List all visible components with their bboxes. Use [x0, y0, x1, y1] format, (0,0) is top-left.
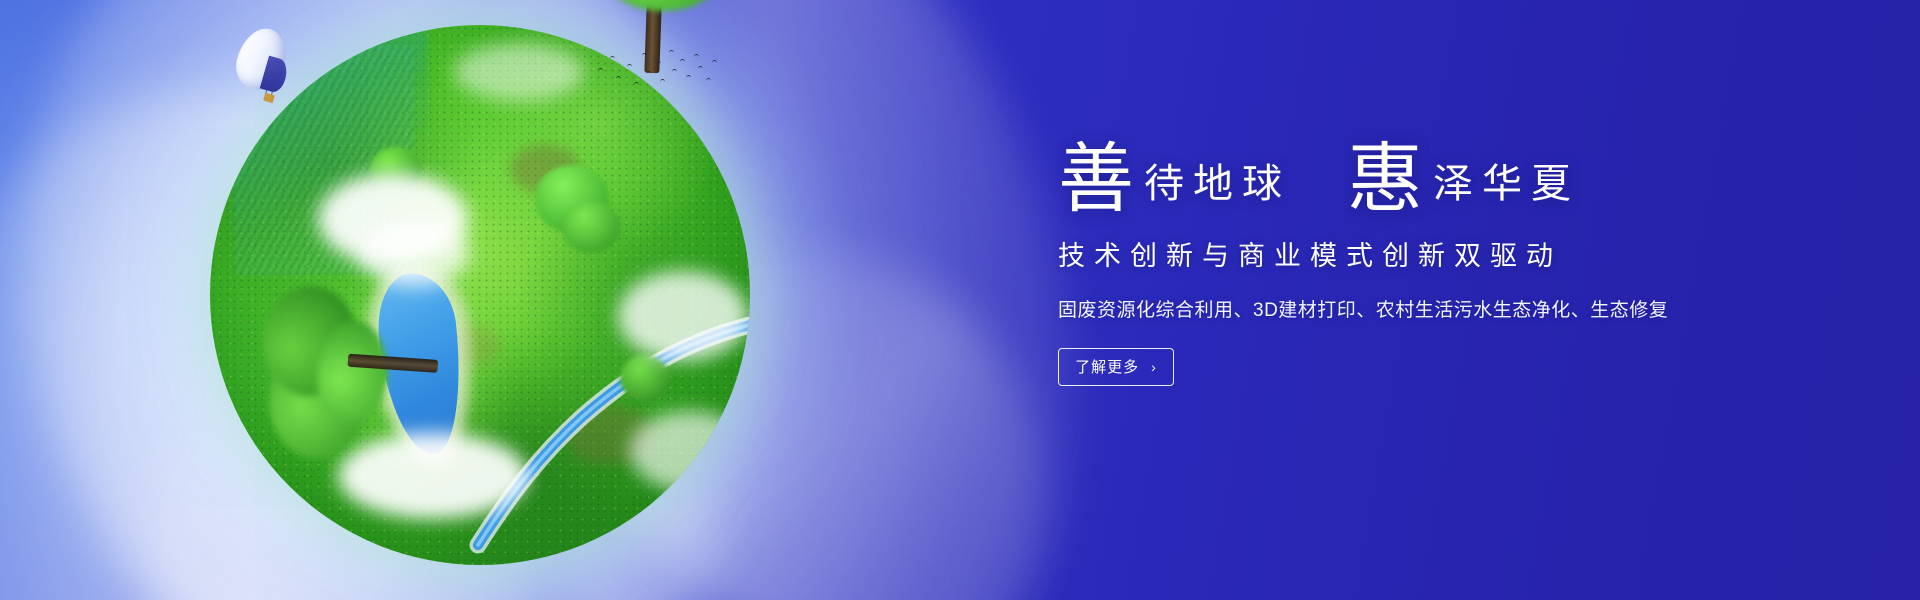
- tree-crown: [604, 0, 722, 11]
- bush: [562, 201, 620, 253]
- planet-cloud: [618, 271, 748, 361]
- balloon-basket: [263, 93, 275, 103]
- page-title: 善 待地球 惠 泽华夏: [1058, 140, 1818, 210]
- headline-small-text-two: 泽华夏: [1423, 164, 1580, 210]
- headline-big-char-two: 惠: [1347, 144, 1423, 214]
- chevron-right-icon: ›: [1151, 360, 1157, 374]
- headline-small-text-one: 待地球: [1134, 164, 1291, 210]
- planet-cloud: [630, 411, 750, 491]
- bird-flock-icon: [594, 48, 724, 96]
- hero-content: 善 待地球 惠 泽华夏 技术创新与商业模式创新双驱动 固废资源化综合利用、3D建…: [1058, 140, 1818, 386]
- planet-cloud: [360, 221, 470, 287]
- learn-more-label: 了解更多: [1075, 356, 1139, 377]
- bush: [620, 355, 670, 401]
- side-tree: [249, 291, 454, 524]
- learn-more-button[interactable]: 了解更多 ›: [1058, 348, 1174, 386]
- hot-air-balloon-icon: [238, 28, 292, 120]
- description-text: 固废资源化综合利用、3D建材打印、农村生活污水生态净化、生态修复: [1058, 295, 1818, 322]
- subtitle: 技术创新与商业模式创新双驱动: [1058, 234, 1818, 273]
- hero-banner: 善 待地球 惠 泽华夏 技术创新与商业模式创新双驱动 固废资源化综合利用、3D建…: [0, 0, 1920, 600]
- headline-big-char-one: 善: [1058, 144, 1134, 214]
